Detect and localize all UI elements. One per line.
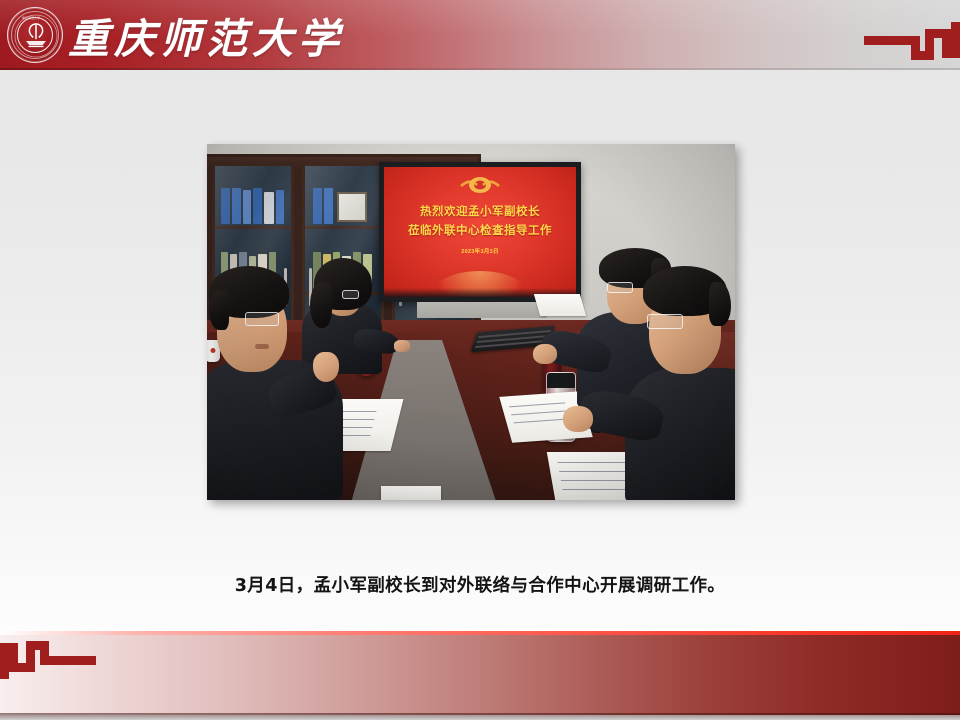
- person-speaking-left-front: [207, 264, 343, 500]
- meeting-photo: 热烈欢迎孟小军副校长 莅临外联中心检查指导工作 2023年3月3日: [207, 144, 735, 500]
- page-footer: [0, 635, 960, 715]
- screen-welcome-line1: 热烈欢迎孟小军副校长: [384, 203, 576, 219]
- meander-ornament-bottom-left: [0, 635, 96, 698]
- document-paper: [381, 486, 441, 500]
- gold-crest-icon: [457, 174, 503, 196]
- meander-ornament-top-right: [864, 8, 960, 71]
- footer-shadow: [0, 713, 960, 720]
- page-title: 重庆师范大学: [68, 4, 344, 66]
- screen-date: 2023年3月3日: [384, 247, 576, 255]
- university-seal-icon: 重庆师范大学: [7, 7, 63, 63]
- screen-stand: [417, 302, 547, 318]
- header-divider: [0, 68, 960, 70]
- page-header: 重庆师范大学 重庆师范大学: [0, 0, 960, 70]
- slide-canvas: 重庆师范大学 重庆师范大学: [0, 0, 960, 720]
- person-seated-right-front: [625, 264, 735, 500]
- photo-caption: 3月4日，孟小军副校长到对外联络与合作中心开展调研工作。: [0, 572, 960, 597]
- screen-welcome-line2: 莅临外联中心检查指导工作: [384, 222, 576, 238]
- display-screen: 热烈欢迎孟小军副校长 莅临外联中心检查指导工作 2023年3月3日: [379, 162, 581, 302]
